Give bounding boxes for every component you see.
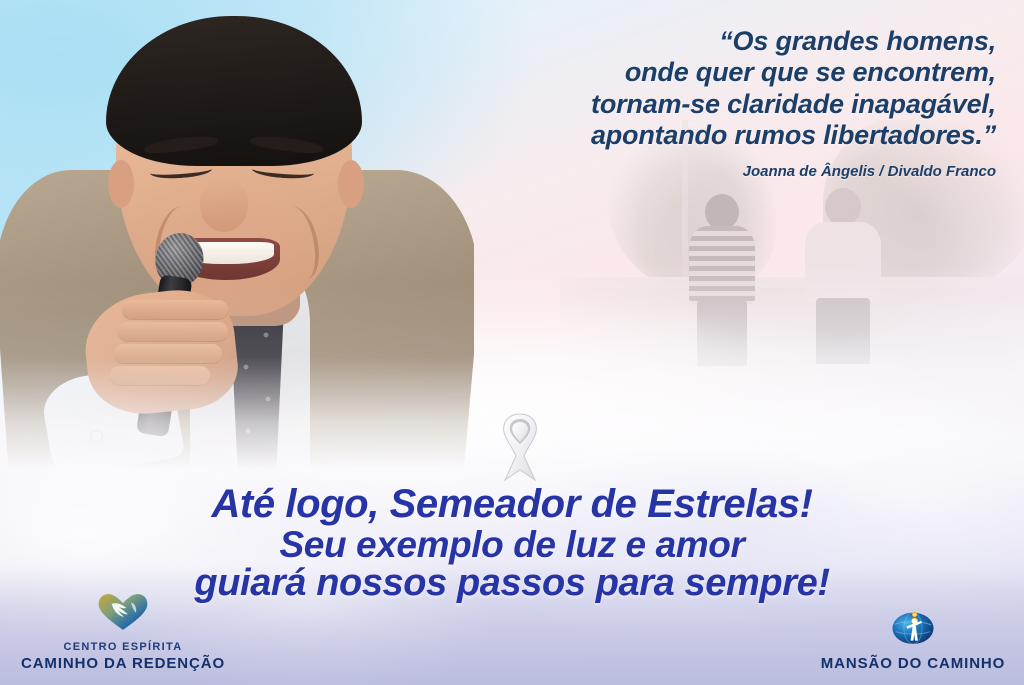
heart-hands-icon [8,592,238,637]
quote-block: “Os grandes homens, onde quer que se enc… [376,26,996,180]
memorial-poster: “Os grandes homens, onde quer que se enc… [0,0,1024,685]
farewell-message: Até logo, Semeador de Estrelas! Seu exem… [0,484,1024,604]
logo-centro-espirita-caminho-da-redencao: CENTRO ESPÍRITA CAMINHO DA REDENÇÃO [8,592,238,673]
cuff-button [90,430,103,443]
quote-line-4: apontando rumos libertadores.” [376,120,996,151]
ear-left [108,160,134,208]
quote-author: Joanna de Ângelis / Divaldo Franco [376,163,996,180]
person-head [705,194,739,230]
quote-line-1: “Os grandes homens, [376,26,996,57]
finger-1 [122,300,228,319]
logo-mansao-do-caminho: MANSÃO DO CAMINHO [808,604,1018,673]
finger-2 [118,322,228,341]
nose [200,180,248,232]
hair [106,16,362,166]
quote-line-3: tornam-se claridade inapagável, [376,89,996,120]
ear-right [338,160,364,208]
message-line-2: Seu exemplo de luz e amor [0,526,1024,564]
logo-right-line-1: MANSÃO DO CAMINHO [808,655,1018,673]
person-head [825,188,861,226]
message-line-1: Até logo, Semeador de Estrelas! [0,484,1024,526]
finger-3 [114,344,222,363]
logo-left-line-2: CAMINHO DA REDENÇÃO [8,655,238,673]
white-mourning-ribbon-icon [489,408,551,486]
globe-torch-icon [808,604,1018,651]
finger-4 [110,366,210,385]
quote-line-2: onde quer que se encontrem, [376,57,996,88]
logo-left-line-1: CENTRO ESPÍRITA [8,641,238,655]
